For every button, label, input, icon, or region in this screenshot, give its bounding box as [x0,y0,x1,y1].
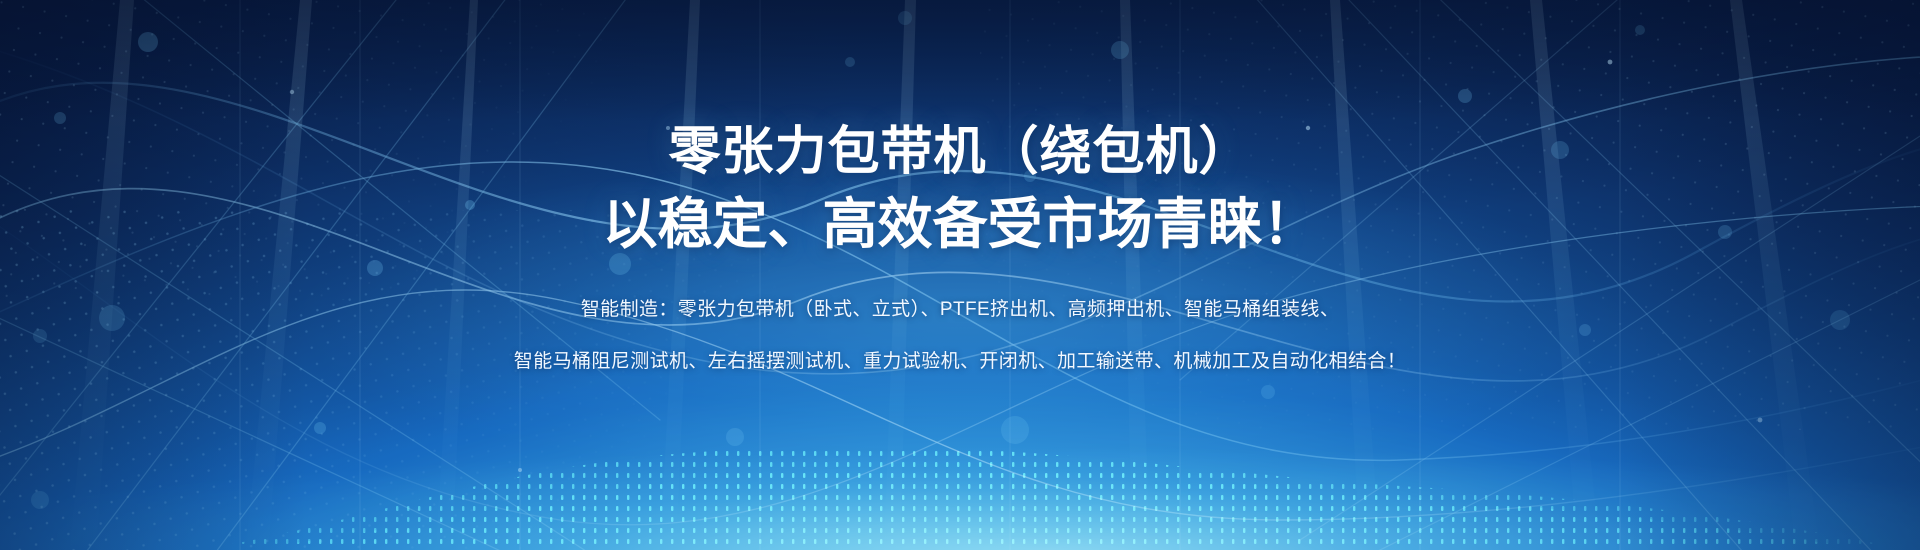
banner-subtitle-block: 智能制造：零张力包带机（卧式、立式）、PTFE挤出机、高频押出机、智能马桶组装线… [514,295,1406,376]
banner-subtitle-line-2: 智能马桶阻尼测试机、左右摇摆测试机、重力试验机、开闭机、加工输送带、机械加工及自… [514,347,1406,376]
banner-title-line-1: 零张力包带机（绕包机） [602,118,1317,188]
hero-banner: 零张力包带机（绕包机） 以稳定、高效备受市场青睐！ 智能制造：零张力包带机（卧式… [0,0,1920,550]
banner-content: 零张力包带机（绕包机） 以稳定、高效备受市场青睐！ 智能制造：零张力包带机（卧式… [0,0,1920,550]
banner-subtitle-line-1: 智能制造：零张力包带机（卧式、立式）、PTFE挤出机、高频押出机、智能马桶组装线… [514,295,1406,324]
banner-title-block: 零张力包带机（绕包机） 以稳定、高效备受市场青睐！ [602,118,1317,261]
banner-title-line-2: 以稳定、高效备受市场青睐！ [602,188,1317,262]
